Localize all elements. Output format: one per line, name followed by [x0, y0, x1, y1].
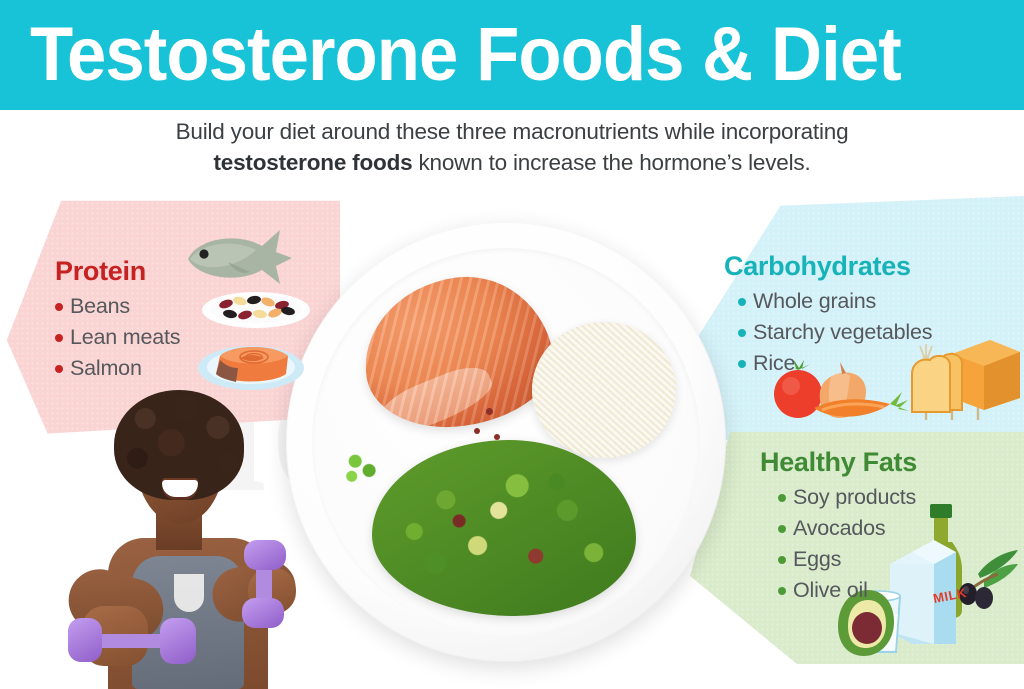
list-item-label: Soy products: [793, 482, 916, 513]
bullet-icon: [738, 360, 746, 368]
list-item: Starchy vegetables: [738, 317, 932, 348]
list-item: Lean meats: [55, 322, 180, 353]
list-item-label: Avocados: [793, 513, 885, 544]
list-item: Rice: [738, 348, 932, 379]
page-title: Testosterone Foods & Diet: [30, 17, 901, 93]
healthy-fats-section: Healthy Fats Soy products Avocados Eggs …: [760, 446, 917, 606]
bullet-icon: [738, 329, 746, 337]
bullet-icon: [778, 587, 786, 595]
header-banner: Testosterone Foods & Diet: [0, 0, 1024, 110]
sports-bra-notch: [174, 574, 204, 612]
protein-section: Protein Beans Lean meats Salmon: [55, 255, 180, 384]
bullet-icon: [55, 303, 63, 311]
bullet-icon: [778, 494, 786, 502]
list-item: Salmon: [55, 353, 180, 384]
dumbbell-right-icon: [234, 540, 302, 626]
subtitle: Build your diet around these three macro…: [0, 116, 1024, 178]
list-item: Eggs: [778, 544, 917, 575]
list-item: Olive oil: [778, 575, 917, 606]
list-item-label: Rice: [753, 348, 795, 379]
dumbbell-left-icon: [68, 610, 196, 670]
list-item-label: Lean meats: [70, 322, 180, 353]
list-item: Whole grains: [738, 286, 932, 317]
peppercorn: [486, 408, 493, 415]
infographic-canvas: Testosterone Foods & Diet Build your die…: [0, 0, 1024, 689]
carbohydrates-heading: Carbohydrates: [724, 250, 932, 282]
bullet-icon: [778, 525, 786, 533]
subtitle-line-2: known to increase the hormone’s levels.: [412, 150, 810, 175]
salmon-fillet: [355, 266, 562, 439]
protein-heading: Protein: [55, 255, 180, 287]
bullet-icon: [738, 298, 746, 306]
bullet-icon: [55, 334, 63, 342]
healthy-fats-heading: Healthy Fats: [760, 446, 917, 478]
olive-branch-icon: [959, 550, 1018, 609]
woman-with-dumbbells-photo: [62, 388, 352, 689]
subtitle-bold-phrase: testosterone foods: [214, 150, 413, 175]
bullet-icon: [778, 556, 786, 564]
healthy-fats-list: Soy products Avocados Eggs Olive oil: [778, 482, 917, 606]
list-item-label: Salmon: [70, 353, 142, 384]
plate-of-food-photo: [286, 222, 726, 662]
list-item-label: Olive oil: [793, 575, 868, 606]
list-item: Avocados: [778, 513, 917, 544]
list-item-label: Starchy vegetables: [753, 317, 932, 348]
white-rice: [532, 322, 676, 458]
fish-icon: [176, 226, 296, 288]
beans-plate-icon: [200, 286, 312, 330]
list-item: Beans: [55, 291, 180, 322]
list-item-label: Eggs: [793, 544, 841, 575]
list-item-label: Beans: [70, 291, 130, 322]
list-item-label: Whole grains: [753, 286, 876, 317]
bullet-icon: [55, 365, 63, 373]
subtitle-line-1: Build your diet around these three macro…: [176, 119, 849, 144]
list-item: Soy products: [778, 482, 917, 513]
peppercorn: [494, 434, 500, 440]
peppercorn: [474, 428, 480, 434]
salmon-steak-icon: [196, 330, 306, 392]
protein-list: Beans Lean meats Salmon: [55, 291, 180, 384]
carbohydrates-list: Whole grains Starchy vegetables Rice: [738, 286, 932, 379]
carbohydrates-section: Carbohydrates Whole grains Starchy veget…: [724, 250, 932, 379]
